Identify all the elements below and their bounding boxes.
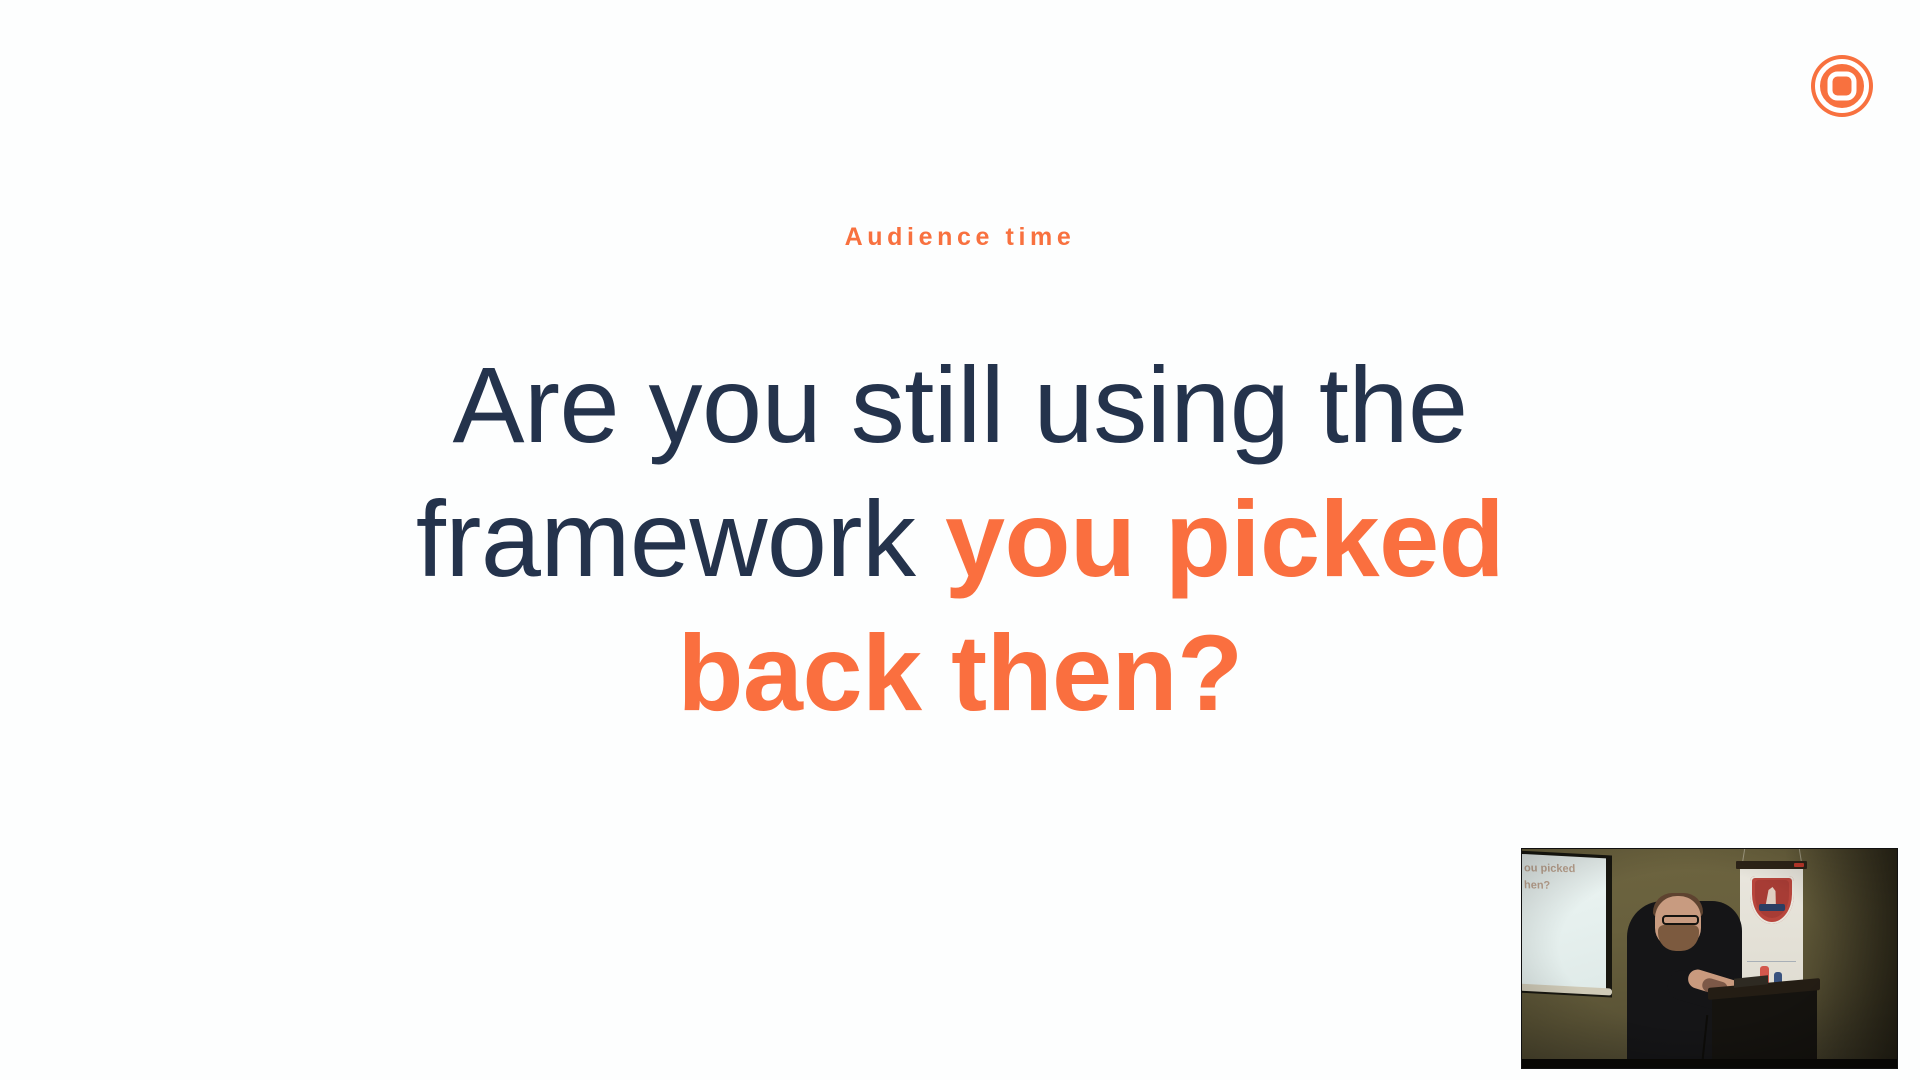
- video-frame: ou picked hen?: [1522, 849, 1897, 1068]
- slide-eyebrow-label: Audience time: [0, 225, 1920, 250]
- slide-headline: Are you still using the framework you pi…: [390, 338, 1530, 740]
- speaker-video-overlay[interactable]: ou picked hen?: [1521, 848, 1898, 1069]
- speaker-glasses: [1662, 915, 1699, 925]
- presentation-slide: Audience time Are you still using the fr…: [0, 0, 1920, 1080]
- floor-shadow: [1522, 1059, 1897, 1068]
- banner-rod: [1736, 861, 1807, 869]
- shield-figure: [1762, 886, 1782, 906]
- banner-shield-crest: [1750, 876, 1794, 924]
- projected-slide-text-line-2: hen?: [1524, 877, 1609, 895]
- projected-slide-text-line-1: ou picked: [1524, 860, 1609, 878]
- shield-band: [1759, 904, 1785, 911]
- shield-inner: [1755, 880, 1789, 918]
- banner-rod-accent: [1794, 863, 1804, 867]
- concentric-target-logo: [1808, 52, 1876, 120]
